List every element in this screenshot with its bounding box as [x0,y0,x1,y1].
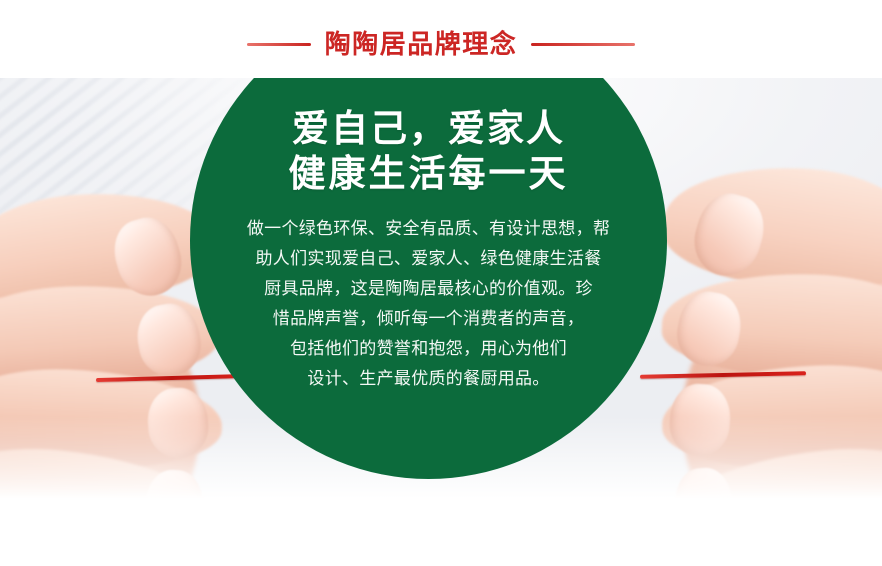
body-line: 设计、生产最优质的餐厨用品。 [229,364,629,394]
body-line: 包括他们的赞誉和抱怨，用心为他们 [229,334,629,364]
hero-body-copy: 做一个绿色环保、安全有品质、有设计思想，帮 助人们实现爱自己、爱家人、绿色健康生… [229,214,629,394]
circle-content: 爱自己，爱家人 健康生活每一天 做一个绿色环保、安全有品质、有设计思想，帮 助人… [190,78,667,479]
hero-photo: 爱自己，爱家人 健康生活每一天 做一个绿色环保、安全有品质、有设计思想，帮 助人… [0,78,882,566]
page-title: 陶陶居品牌理念 [325,29,518,59]
header-rule-left [247,43,311,46]
headline-line-2: 健康生活每一天 [289,151,569,196]
hero-headline: 爱自己，爱家人 健康生活每一天 [289,106,569,196]
headline-line-1: 爱自己，爱家人 [289,106,569,151]
body-line: 厨具品牌，这是陶陶居最核心的价值观。珍 [229,274,629,304]
header-title-group: 陶陶居品牌理念 [0,27,882,61]
page-header: 陶陶居品牌理念 [0,0,882,78]
body-line: 做一个绿色环保、安全有品质、有设计思想，帮 [229,214,629,244]
body-line: 助人们实现爱自己、爱家人、绿色健康生活餐 [229,244,629,274]
brand-philosophy-banner: 陶陶居品牌理念 [0,0,882,566]
body-line: 惜品牌声誉，倾听每一个消费者的声音， [229,304,629,334]
header-rule-right [531,43,635,46]
